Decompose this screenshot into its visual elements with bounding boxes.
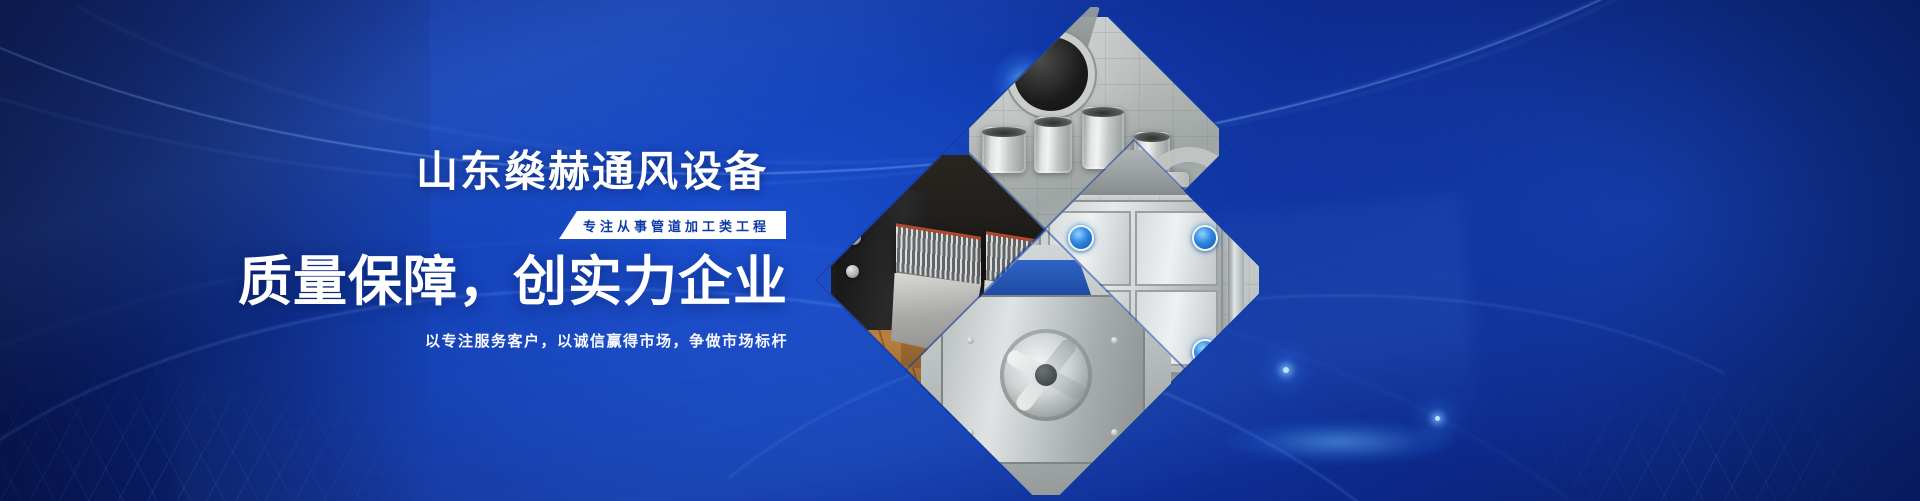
specialty-badge-label: 专注从事管道加工类工程 [583,216,770,235]
banner-copy: 山东燊赫通风设备 专注从事管道加工类工程 质量保障，创实力企业 以专注服务客户，… [0,0,980,501]
tagline: 以专注服务客户，以诚信赢得市场，争做市场标杆 [425,330,788,351]
brand-title: 山东燊赫通风设备 [416,151,768,193]
headline: 质量保障，创实力企业 [238,255,788,309]
specialty-badge: 专注从事管道加工类工程 [559,211,786,239]
hero-banner: 山东燊赫通风设备 专注从事管道加工类工程 质量保障，创实力企业 以专注服务客户，… [0,0,1920,501]
